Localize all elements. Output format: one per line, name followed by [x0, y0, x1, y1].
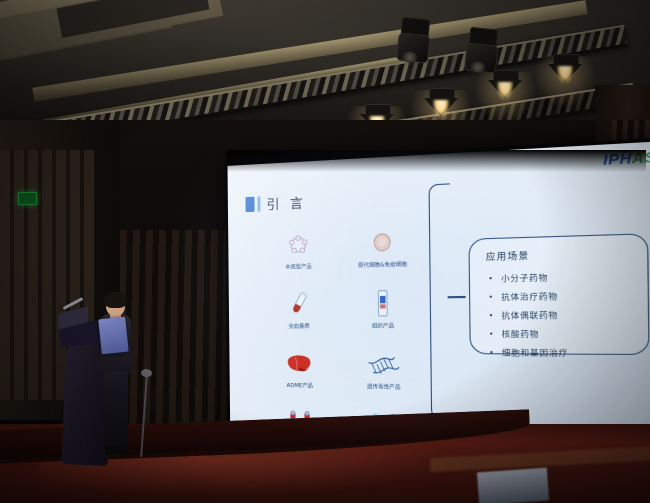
tissue-product-icon: [374, 287, 392, 319]
list-item: 抗体治疗药物: [488, 290, 567, 303]
icon-cell: 本底型产品: [258, 220, 340, 272]
list-item: 小分子药物: [488, 271, 567, 285]
icon-cell: 全血基质: [258, 280, 340, 330]
moving-head-light: [396, 17, 431, 66]
whole-blood-icon: [287, 289, 310, 320]
slide-title-text: 引 言: [266, 192, 306, 213]
liver-adme-icon: [286, 348, 313, 379]
protein-product-icon: [287, 229, 310, 260]
stage-lamp: [424, 88, 458, 118]
primary-cell-icon: [370, 226, 394, 258]
wall-drape: [120, 230, 235, 430]
stage-lamp: [548, 54, 582, 84]
title-bar-icon-secondary: [257, 196, 260, 211]
dna-genotoxicity-icon: [367, 348, 400, 380]
icon-cell: ADME产品: [259, 340, 341, 390]
list-item: 抗体偶联药物: [489, 309, 568, 322]
list-item: 核酸药物: [489, 328, 568, 340]
iphase-logo: IPHASE: [603, 149, 650, 167]
icon-label: ADME产品: [287, 382, 313, 390]
callout-heading: 应用场景: [486, 249, 530, 263]
icon-label: 组织产品: [372, 322, 394, 329]
grouping-brace: [429, 183, 453, 419]
icon-label: 全血基质: [288, 323, 309, 330]
callout-list: 小分子药物 抗体治疗药物 抗体偶联药物 核酸药物 细胞和基因治疗: [488, 271, 568, 366]
title-bar-icon: [245, 197, 254, 213]
floor-light-pool: [477, 468, 549, 503]
icon-cell: 遗传毒性产品: [341, 340, 428, 391]
presenter-papers: [98, 317, 129, 355]
moving-head-light: [464, 27, 499, 76]
icon-cell: 原代细胞&免疫细胞: [339, 216, 426, 269]
grouping-brace-stem: [448, 296, 466, 298]
exit-sign: [18, 192, 37, 205]
logo-text-primary: IPH: [603, 150, 632, 168]
application-scenarios-callout: 应用场景 小分子药物 抗体治疗药物 抗体偶联药物 核酸药物 细胞和基因治疗: [468, 233, 649, 355]
list-item: 细胞和基因治疗: [489, 347, 568, 359]
icon-label: 本底型产品: [285, 263, 312, 271]
photo-scene: IPHASE 引 言: [0, 0, 650, 503]
icon-label: 遗传毒性产品: [367, 383, 401, 391]
icon-cell: 组织产品: [340, 278, 427, 329]
slide-title: 引 言: [245, 192, 306, 214]
icon-label: 原代细胞&免疫细胞: [358, 261, 407, 269]
logo-text-secondary: ASE: [632, 148, 650, 167]
